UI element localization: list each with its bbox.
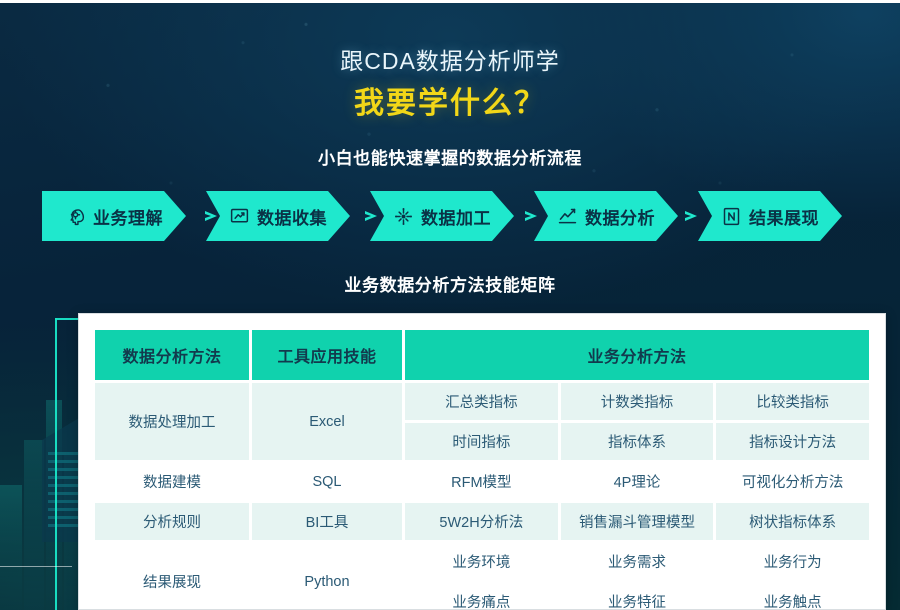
column-header-tool: 工具应用技能 xyxy=(252,330,402,380)
cell-business: 计数类指标 xyxy=(561,383,714,420)
flow-step-label: 结果展现 xyxy=(749,204,819,229)
brain-head-icon xyxy=(65,206,86,227)
line-chart-icon xyxy=(557,206,578,227)
table-row: 数据处理加工 Excel 汇总类指标 计数类指标 比较类指标 xyxy=(95,383,869,420)
cell-business: 可视化分析方法 xyxy=(716,463,869,500)
poster-root: 跟CDA数据分析师学 我要学什么？ 小白也能快速掌握的数据分析流程 业务数据分析… xyxy=(0,0,900,610)
column-header-business: 业务分析方法 xyxy=(405,330,869,380)
flow-step-label: 数据加工 xyxy=(421,204,491,229)
cell-method: 分析规则 xyxy=(95,503,249,540)
flow-step-label: 业务理解 xyxy=(93,204,163,229)
cell-business: 时间指标 xyxy=(405,423,558,460)
table-row: 分析规则 BI工具 5W2H分析法 销售漏斗管理模型 树状指标体系 xyxy=(95,503,869,540)
cell-method: 数据处理加工 xyxy=(95,383,249,460)
subtitle: 小白也能快速掌握的数据分析流程 xyxy=(0,144,900,169)
flow-step-label: 数据收集 xyxy=(257,204,327,229)
top-white-strip xyxy=(0,0,900,3)
cell-business: 比较类指标 xyxy=(716,383,869,420)
monitor-chart-icon xyxy=(229,206,250,227)
cell-business: 5W2H分析法 xyxy=(405,503,558,540)
chevron-right-icon xyxy=(682,191,702,241)
skill-matrix-card: 数据分析方法 工具应用技能 业务分析方法 数据处理加工 Excel 汇总类指标 … xyxy=(78,313,886,610)
cell-method: 结果展现 xyxy=(95,543,249,610)
cell-business: 4P理论 xyxy=(561,463,714,500)
cell-business: 指标设计方法 xyxy=(716,423,869,460)
cell-business: 汇总类指标 xyxy=(405,383,558,420)
cell-business: 指标体系 xyxy=(561,423,714,460)
flow-step-data-collection[interactable]: 数据收集 xyxy=(206,191,350,241)
cell-business: 业务环境 xyxy=(405,543,558,580)
cell-business: 业务痛点 xyxy=(405,583,558,610)
process-flow: 业务理解 数据收集 xyxy=(42,191,862,241)
table-header-row: 数据分析方法 工具应用技能 业务分析方法 xyxy=(95,330,869,380)
node-network-icon xyxy=(393,206,414,227)
report-document-icon xyxy=(721,206,742,227)
table-row: 结果展现 Python 业务环境 业务需求 业务行为 xyxy=(95,543,869,580)
flow-step-data-analysis[interactable]: 数据分析 xyxy=(534,191,678,241)
cell-method: 数据建模 xyxy=(95,463,249,500)
cell-business: 销售漏斗管理模型 xyxy=(561,503,714,540)
flow-step-data-processing[interactable]: 数据加工 xyxy=(370,191,514,241)
cell-business: RFM模型 xyxy=(405,463,558,500)
cell-tool: SQL xyxy=(252,463,402,500)
page-title: 我要学什么？ xyxy=(0,78,900,122)
column-header-method: 数据分析方法 xyxy=(95,330,249,380)
flow-step-business-understanding[interactable]: 业务理解 xyxy=(42,191,186,241)
cell-tool: Python xyxy=(252,543,402,610)
cell-business: 树状指标体系 xyxy=(716,503,869,540)
cell-business: 业务行为 xyxy=(716,543,869,580)
flow-step-result-presentation[interactable]: 结果展现 xyxy=(698,191,842,241)
table-row: 数据建模 SQL RFM模型 4P理论 可视化分析方法 xyxy=(95,463,869,500)
eyebrow-heading: 跟CDA数据分析师学 xyxy=(0,42,900,76)
cell-tool: Excel xyxy=(252,383,402,460)
cell-business: 业务特征 xyxy=(561,583,714,610)
white-rule-decoration xyxy=(0,566,72,567)
cell-business: 业务需求 xyxy=(561,543,714,580)
section-title: 业务数据分析方法技能矩阵 xyxy=(0,271,900,296)
cell-tool: BI工具 xyxy=(252,503,402,540)
cell-business: 业务触点 xyxy=(716,583,869,610)
skill-matrix-table: 数据分析方法 工具应用技能 业务分析方法 数据处理加工 Excel 汇总类指标 … xyxy=(92,327,872,610)
flow-step-label: 数据分析 xyxy=(585,204,655,229)
